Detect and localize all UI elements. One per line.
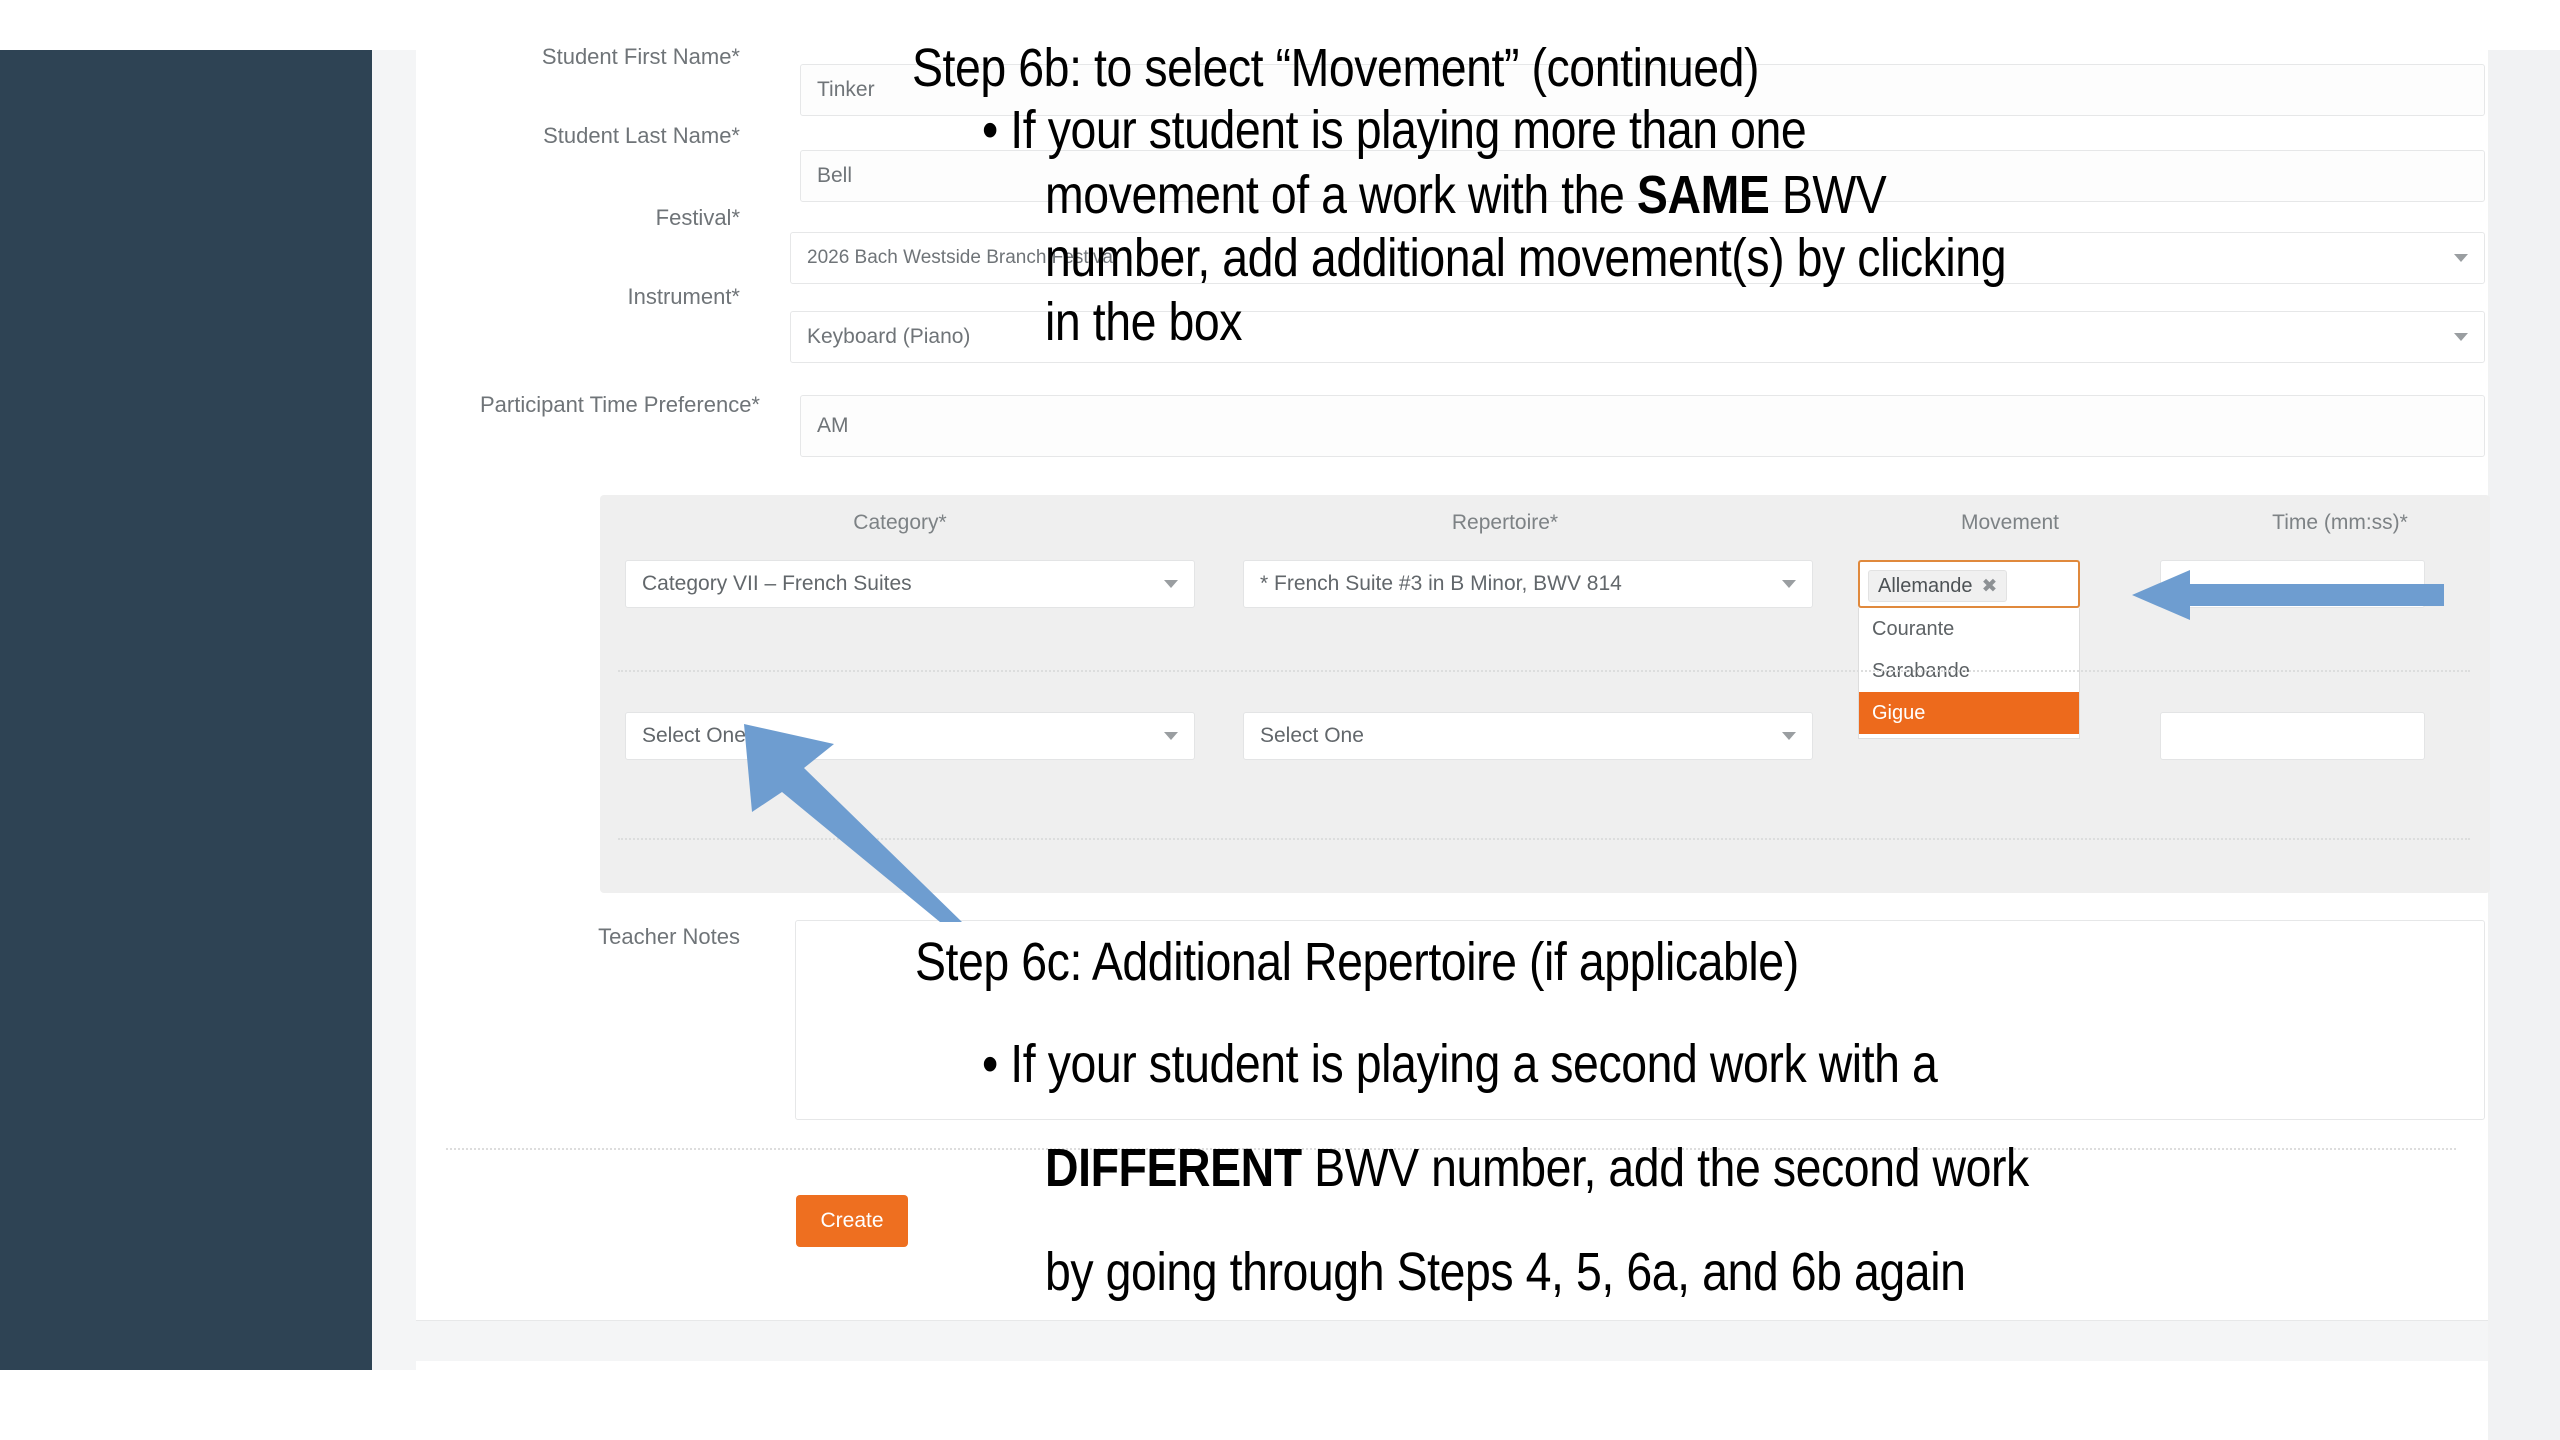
movement-option-courante[interactable]: Courante (1859, 608, 2079, 650)
movement-option-gigue[interactable]: Gigue (1859, 692, 2079, 734)
field-participant-time-preference-value: AM (817, 414, 849, 438)
annotation-6b-line-2-bold: SAME (1637, 165, 1769, 225)
repertoire-row-separator-1 (618, 670, 2470, 672)
annotation-6b-line-3: number, add additional movement(s) by cl… (1045, 228, 2006, 288)
repertoire-row-1-category-select[interactable]: Category VII – French Suites (625, 560, 1195, 608)
label-student-first-name: Student First Name* (470, 42, 740, 71)
chevron-down-icon-row1-category[interactable] (1164, 580, 1178, 588)
page-bottom-strip (416, 1320, 2488, 1361)
chevron-down-icon-row1-repertoire[interactable] (1782, 580, 1796, 588)
repertoire-header-repertoire: Repertoire* (1200, 511, 1810, 535)
repertoire-header-time: Time (mm:ss)* (2190, 511, 2490, 535)
annotation-6c-line-1: • If your student is playing a second wo… (982, 1034, 1937, 1094)
create-button-label: Create (820, 1209, 883, 1233)
field-participant-time-preference[interactable]: AM (800, 395, 2485, 457)
movement-dropdown-list[interactable]: Courante Sarabande Gigue (1858, 608, 2080, 739)
movement-tag-allemande[interactable]: Allemande ✖ (1868, 570, 2007, 602)
repertoire-row-2-repertoire-value: Select One (1260, 724, 1364, 748)
annotation-6c-line-2-bold: DIFFERENT (1045, 1138, 1302, 1198)
sidebar-gutter (372, 50, 416, 1370)
label-teacher-notes: Teacher Notes (470, 922, 740, 951)
arrow-to-select-one-icon (742, 722, 962, 922)
chevron-down-icon-festival[interactable] (2454, 254, 2468, 262)
label-student-last-name: Student Last Name* (470, 121, 740, 150)
annotation-title-step-6c: Step 6c: Additional Repertoire (if appli… (915, 932, 1799, 992)
chevron-down-icon-row2-category[interactable] (1164, 732, 1178, 740)
repertoire-row-1-repertoire-value: * French Suite #3 in B Minor, BWV 814 (1260, 572, 1622, 596)
chevron-down-icon-row2-repertoire[interactable] (1782, 732, 1796, 740)
left-sidebar (0, 50, 372, 1370)
annotation-6b-line-1: • If your student is playing more than o… (982, 100, 1806, 160)
repertoire-header-category: Category* (600, 511, 1200, 535)
field-student-last-name-value: Bell (817, 164, 852, 188)
repertoire-row-1-repertoire-select[interactable]: * French Suite #3 in B Minor, BWV 814 (1243, 560, 1813, 608)
arrow-to-movement-box-icon (2132, 570, 2444, 620)
annotation-6b-line-2-post: BWV (1769, 165, 1886, 225)
annotation-6c-line-3: by going through Steps 4, 5, 6a, and 6b … (1045, 1242, 1965, 1302)
chevron-down-icon-instrument[interactable] (2454, 333, 2468, 341)
repertoire-row-2-repertoire-select[interactable]: Select One (1243, 712, 1813, 760)
annotation-6b-line-4: in the box (1045, 292, 1242, 352)
annotation-6c-line-2-post: BWV number, add the second work (1302, 1138, 2029, 1198)
annotation-6c-line-2: DIFFERENT BWV number, add the second wor… (1045, 1138, 2029, 1198)
label-festival: Festival* (470, 203, 740, 232)
field-student-first-name-value: Tinker (817, 78, 875, 102)
label-participant-time-preference: Participant Time Preference* (470, 390, 760, 419)
annotation-6b-line-2: movement of a work with the SAME BWV (1045, 165, 1886, 225)
close-icon-allemande[interactable]: ✖ (1982, 575, 1998, 598)
create-button[interactable]: Create (796, 1195, 908, 1247)
repertoire-row-2-time-input[interactable] (2160, 712, 2425, 760)
repertoire-row-1-category-value: Category VII – French Suites (642, 572, 912, 596)
movement-tag-allemande-label: Allemande (1878, 575, 1973, 598)
annotation-6b-line-2-pre: movement of a work with the (1045, 165, 1637, 225)
repertoire-header-movement: Movement (1810, 511, 2210, 535)
label-instrument: Instrument* (470, 282, 740, 311)
field-instrument-value: Keyboard (Piano) (807, 325, 970, 349)
repertoire-row-2-category-value: Select One (642, 724, 746, 748)
repertoire-row-1-movement-multiselect[interactable]: Allemande ✖ (1858, 560, 2080, 608)
annotation-title-step-6b: Step 6b: to select “Movement” (continued… (912, 38, 1759, 98)
right-gutter (2488, 50, 2560, 1440)
